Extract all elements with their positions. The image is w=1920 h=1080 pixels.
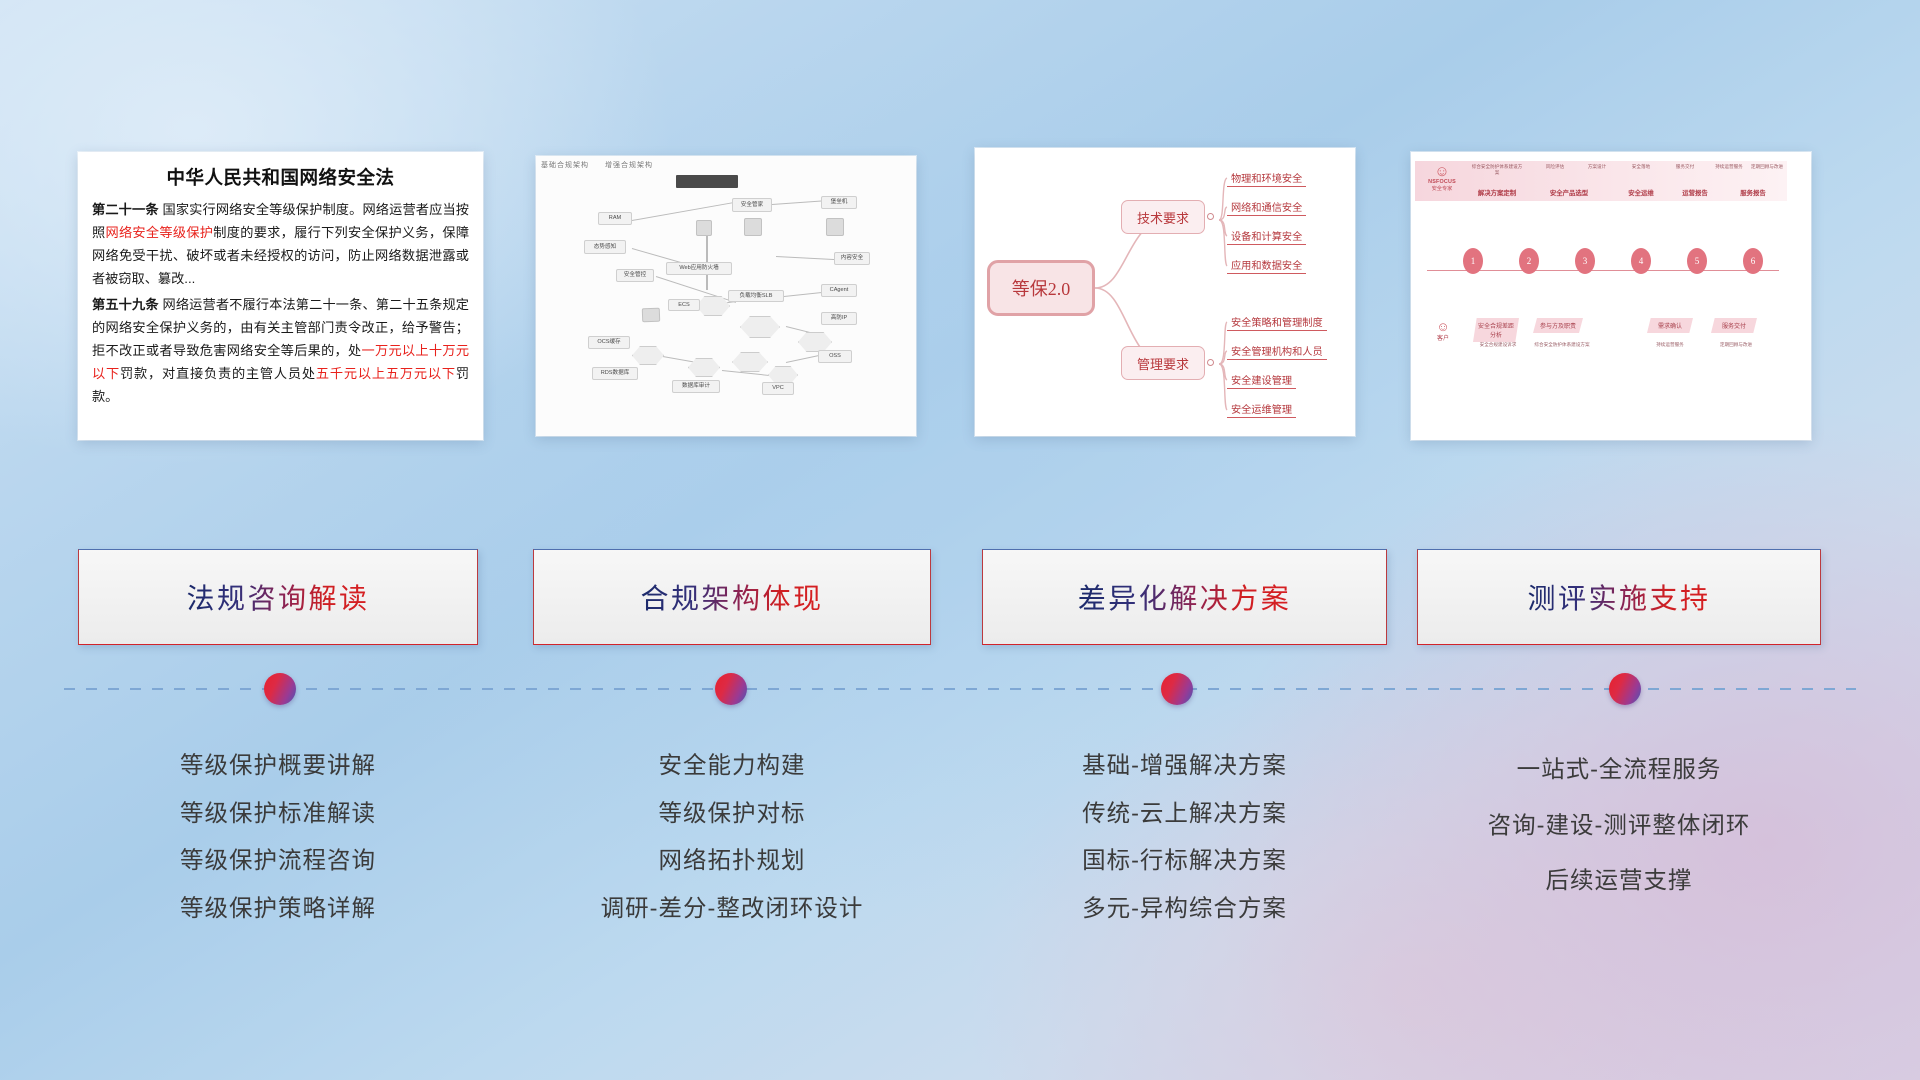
law-article-label-1: 第二十一条 xyxy=(92,202,159,217)
arch-node: OCS缓存 xyxy=(588,336,630,349)
timeline-dot-1[interactable] xyxy=(264,673,296,705)
arch-tab-basic[interactable]: 基础合规架构 xyxy=(541,162,589,169)
architecture-diagram: 基础合规架构增强合规架构 xyxy=(536,156,916,436)
customer-label: 客户 xyxy=(1421,333,1465,342)
process-step-node[interactable]: 1 xyxy=(1463,248,1483,274)
process-caption: 持续运营服务 xyxy=(1639,342,1701,348)
arch-node: 内容安全 xyxy=(834,252,870,265)
list-item: 多元-异构综合方案 xyxy=(982,885,1387,933)
process-caption: 定期回顾与改进 xyxy=(1705,342,1767,348)
law-seg-2-4-highlight: 五千元以上五万元以下 xyxy=(316,366,456,381)
process-top-label: 定期回顾与改进 xyxy=(1741,164,1793,170)
cloud-architecture-card[interactable]: 基础合规架构增强合规架构 xyxy=(536,156,916,436)
arch-hex-node xyxy=(732,352,768,372)
arch-node: 高防IP xyxy=(821,312,857,325)
customer-actor: ☺ 客户 xyxy=(1421,320,1465,342)
section-button-differentiated-solutions[interactable]: 差异化解决方案 xyxy=(982,549,1387,645)
arch-node: ECS xyxy=(668,299,700,311)
mindmap-branch-management: 管理要求 xyxy=(1121,346,1205,380)
database-icon xyxy=(642,308,660,323)
law-article-label-2: 第五十九条 xyxy=(92,297,159,312)
arch-link xyxy=(632,202,735,221)
arch-node: 态势感知 xyxy=(584,240,626,254)
architecture-title-chip xyxy=(676,175,738,188)
process-sub-label: 服务报告 xyxy=(1725,188,1781,197)
law-paragraph-1: 第二十一条 国家实行网络安全等级保护制度。网络运营者应当按照网络安全等级保护制度… xyxy=(92,199,469,291)
timeline-dot-3[interactable] xyxy=(1161,673,1193,705)
arch-tab-enhanced[interactable]: 增强合规架构 xyxy=(605,162,653,169)
mindmap-branch-technical: 技术要求 xyxy=(1121,200,1205,234)
arch-node: Web应用防火墙 xyxy=(666,262,732,275)
djcp-mindmap-card[interactable]: 等保2.0 技术要求 物理和环境安全 网络和通信安全 设备和计算安全 应用和数据… xyxy=(975,148,1355,436)
process-step-node[interactable]: 5 xyxy=(1687,248,1707,274)
timeline-dashed-line xyxy=(64,688,1856,690)
mindmap-root-node: 等保2.0 xyxy=(987,260,1095,316)
law-document: 中华人民共和国网络安全法 第二十一条 国家实行网络安全等级保护制度。网络运营者应… xyxy=(78,152,483,417)
mindmap-leaf: 应用和数据安全 xyxy=(1227,257,1306,274)
list-item: 等级保护策略详解 xyxy=(78,885,478,933)
process-step-node[interactable]: 6 xyxy=(1743,248,1763,274)
mindmap-leaf: 安全管理机构和人员 xyxy=(1227,343,1327,360)
arch-node: RAM xyxy=(598,212,632,225)
section-button-label: 测评实施支持 xyxy=(1527,577,1710,617)
law-seg-1-2-highlight: 网络安全等级保护 xyxy=(105,225,213,240)
arch-node: RDS数据库 xyxy=(592,367,638,380)
process-step-node[interactable]: 2 xyxy=(1519,248,1539,274)
arch-node: VPC xyxy=(762,382,794,395)
arch-node: 堡垒机 xyxy=(821,196,857,209)
customer-avatar-icon: ☺ xyxy=(1421,320,1465,333)
mindmap-collapse-dot[interactable] xyxy=(1207,359,1214,366)
law-seg-2-3: 罚款，对直接负责的主管人员处 xyxy=(120,366,316,381)
process-badge: 参与方及职责 xyxy=(1533,318,1583,333)
section-button-compliance-architecture[interactable]: 合规架构体现 xyxy=(533,549,931,645)
slide-canvas: 中华人民共和国网络安全法 第二十一条 国家实行网络安全等级保护制度。网络运营者应… xyxy=(0,0,1920,1080)
mindmap-leaf: 安全建设管理 xyxy=(1227,372,1296,389)
nsfocus-process-card[interactable]: ☺ NSFOCUS 安全专家 综合安全防护体系建设方案 风险评估 方案设计 安全… xyxy=(1411,152,1811,440)
process-flow-diagram: ☺ NSFOCUS 安全专家 综合安全防护体系建设方案 风险评估 方案设计 安全… xyxy=(1411,152,1811,440)
process-caption: 综合安全防护体系建设方案 xyxy=(1531,342,1593,348)
list-item: 国标-行标解决方案 xyxy=(982,837,1387,885)
timeline-track xyxy=(64,688,1856,690)
arch-hex-node xyxy=(798,332,832,352)
list-item: 网络拓扑规划 xyxy=(533,837,931,885)
arch-node: 负载均衡SLB xyxy=(728,290,784,302)
section-items-differentiated-solutions: 基础-增强解决方案 传统-云上解决方案 国标-行标解决方案 多元-异构综合方案 xyxy=(982,742,1387,932)
list-item: 等级保护对标 xyxy=(533,790,931,838)
law-title: 中华人民共和国网络安全法 xyxy=(92,164,469,190)
section-button-label: 合规架构体现 xyxy=(640,577,823,617)
list-item: 等级保护流程咨询 xyxy=(78,837,478,885)
process-badge: 安全合规差距分析 xyxy=(1473,318,1519,342)
process-badge: 需求确认 xyxy=(1647,318,1693,333)
cybersecurity-law-card[interactable]: 中华人民共和国网络安全法 第二十一条 国家实行网络安全等级保护制度。网络运营者应… xyxy=(78,152,483,440)
process-sub-label: 解决方案定制 xyxy=(1469,188,1525,197)
arch-hex-node xyxy=(632,346,664,365)
mindmap: 等保2.0 技术要求 物理和环境安全 网络和通信安全 设备和计算安全 应用和数据… xyxy=(975,148,1355,436)
process-sub-label: 安全产品选型 xyxy=(1541,188,1597,197)
list-item: 等级保护概要讲解 xyxy=(78,742,478,790)
process-sub-label: 运营报告 xyxy=(1667,188,1723,197)
list-item: 后续运营支撑 xyxy=(1417,853,1821,909)
server-icon xyxy=(744,218,762,236)
timeline-dot-4[interactable] xyxy=(1609,673,1641,705)
server-icon xyxy=(826,218,844,236)
process-top-label: 综合安全防护体系建设方案 xyxy=(1471,164,1523,176)
section-items-assessment-support: 一站式-全流程服务 咨询-建设-测评整体闭环 后续运营支撑 xyxy=(1417,742,1821,909)
section-button-label: 法规咨询解读 xyxy=(186,577,369,617)
mindmap-leaf: 安全策略和管理制度 xyxy=(1227,314,1327,331)
arch-link xyxy=(776,256,836,260)
process-step-node[interactable]: 3 xyxy=(1575,248,1595,274)
arch-node: 安全管控 xyxy=(616,269,654,282)
process-sub-label: 安全运维 xyxy=(1613,188,1669,197)
list-item: 基础-增强解决方案 xyxy=(982,742,1387,790)
architecture-header-tabs: 基础合规架构增强合规架构 xyxy=(541,160,669,170)
list-item: 一站式-全流程服务 xyxy=(1417,742,1821,798)
arch-node: 安全管家 xyxy=(732,198,772,212)
mindmap-leaf: 安全运维管理 xyxy=(1227,401,1296,418)
section-items-regulation-consulting: 等级保护概要讲解 等级保护标准解读 等级保护流程咨询 等级保护策略详解 xyxy=(78,742,478,932)
arch-node: OSS xyxy=(818,350,852,363)
list-item: 咨询-建设-测评整体闭环 xyxy=(1417,798,1821,854)
section-button-assessment-support[interactable]: 测评实施支持 xyxy=(1417,549,1821,645)
process-step-node[interactable]: 4 xyxy=(1631,248,1651,274)
arch-node: 数据库审计 xyxy=(672,380,720,393)
law-paragraph-2: 第五十九条 网络运营者不履行本法第二十一条、第二十五条规定的网络安全保护义务的，… xyxy=(92,294,469,409)
timeline-dot-2[interactable] xyxy=(715,673,747,705)
section-button-regulation-consulting[interactable]: 法规咨询解读 xyxy=(78,549,478,645)
section-button-label: 差异化解决方案 xyxy=(1078,577,1292,617)
server-icon xyxy=(696,220,712,236)
list-item: 安全能力构建 xyxy=(533,742,931,790)
list-item: 传统-云上解决方案 xyxy=(982,790,1387,838)
list-item: 等级保护标准解读 xyxy=(78,790,478,838)
section-items-compliance-architecture: 安全能力构建 等级保护对标 网络拓扑规划 调研-差分-整改闭环设计 xyxy=(533,742,931,932)
process-caption: 安全合规建设诉求 xyxy=(1467,342,1529,348)
arch-hex-node xyxy=(740,316,780,338)
nsfocus-logo: ☺ NSFOCUS 安全专家 xyxy=(1419,164,1465,192)
arch-node: CAgent xyxy=(821,284,857,297)
expert-avatar-icon: ☺ xyxy=(1419,164,1465,179)
process-badge: 服务交付 xyxy=(1711,318,1757,333)
mindmap-collapse-dot[interactable] xyxy=(1207,213,1214,220)
illustration-cards-row: 中华人民共和国网络安全法 第二十一条 国家实行网络安全等级保护制度。网络运营者应… xyxy=(0,0,1920,460)
brand-subtitle: 安全专家 xyxy=(1419,185,1465,192)
list-item: 调研-差分-整改闭环设计 xyxy=(533,885,931,933)
mindmap-leaf: 物理和环境安全 xyxy=(1227,170,1306,187)
mindmap-leaf: 设备和计算安全 xyxy=(1227,228,1306,245)
mindmap-leaf: 网络和通信安全 xyxy=(1227,199,1306,216)
